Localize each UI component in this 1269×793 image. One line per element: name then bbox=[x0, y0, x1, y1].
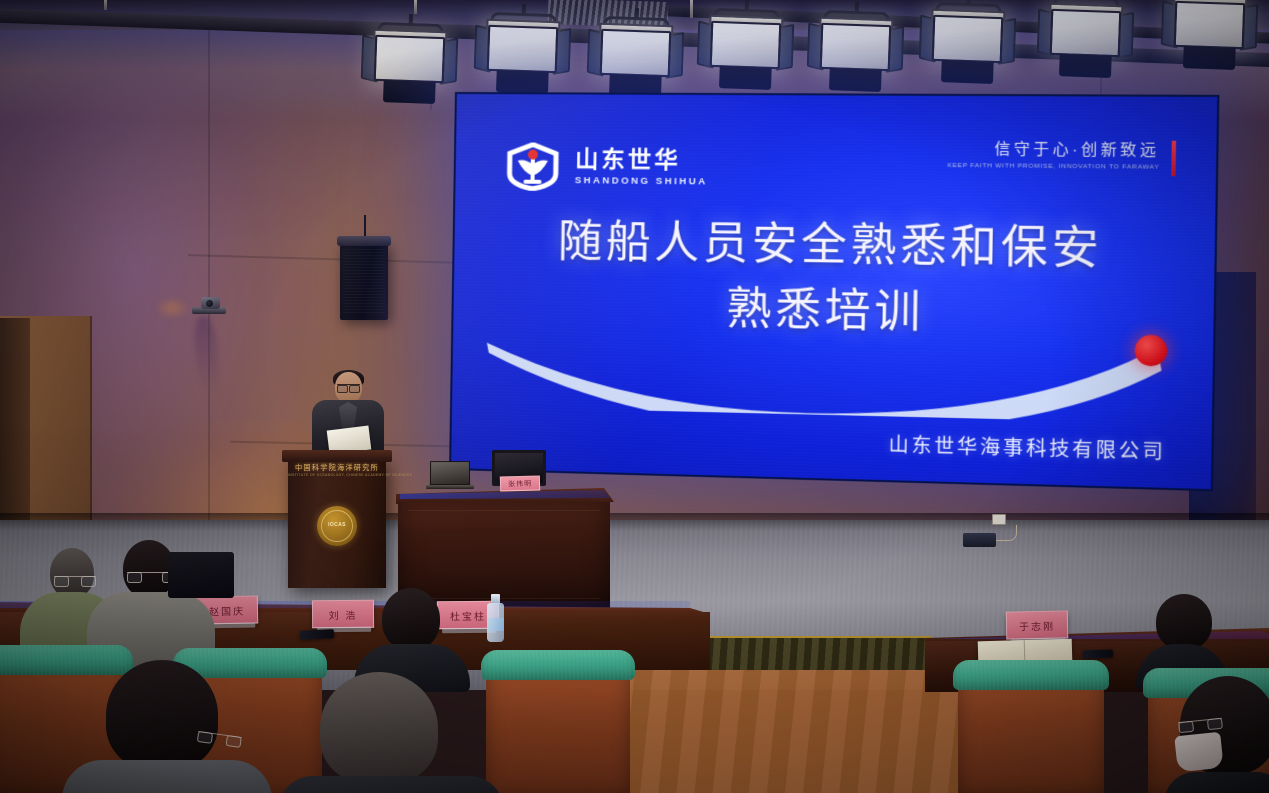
bottle-label bbox=[487, 618, 504, 631]
presenter-laptop bbox=[426, 461, 472, 489]
truss-hang-rod bbox=[104, 0, 107, 10]
person-shoulders bbox=[62, 760, 272, 793]
auditorium-seat[interactable] bbox=[486, 650, 630, 793]
laptop-keyboard-base bbox=[426, 485, 474, 489]
truss-hang-rod bbox=[414, 0, 417, 14]
floor-equipment-box bbox=[963, 533, 996, 547]
name-card-text: 于志刚 bbox=[1019, 617, 1055, 633]
stage-light-fixture bbox=[1165, 1, 1254, 78]
podium-institute-name-cn: 中国科学院海洋研究所 bbox=[288, 463, 386, 473]
name-card-text: 张伟明 bbox=[501, 477, 539, 491]
audience-person bbox=[78, 660, 248, 793]
speaking-podium: 中国科学院海洋研究所 INSTITUTE OF OCEANOLOGY, CHIN… bbox=[288, 458, 386, 588]
podium-emblem-icon: IOCAS bbox=[317, 506, 357, 546]
seat-headrest-pad bbox=[953, 660, 1109, 690]
wall-speaker bbox=[340, 242, 388, 320]
stage-edge-shadow bbox=[0, 513, 1269, 531]
stage-light-fixture bbox=[701, 21, 790, 98]
seat-backrest bbox=[958, 674, 1104, 793]
person-head bbox=[1156, 594, 1212, 650]
seat-backrest bbox=[486, 664, 630, 793]
stage-light-fixture bbox=[478, 25, 567, 102]
name-card: 于志刚 bbox=[1006, 610, 1069, 639]
light-body bbox=[1183, 46, 1236, 70]
person-head bbox=[106, 660, 218, 770]
audience-person bbox=[1140, 594, 1216, 674]
presenter-glasses-icon bbox=[337, 384, 360, 390]
seat-fabric-texture bbox=[953, 660, 1109, 690]
light-panel bbox=[487, 25, 559, 73]
seat-headrest-pad bbox=[481, 650, 635, 680]
light-panel bbox=[1050, 9, 1122, 57]
seat-fabric-texture bbox=[481, 650, 635, 680]
light-body bbox=[496, 70, 549, 94]
led-screen-slide[interactable]: 山东世华 SHANDONG SHIHUA 信守于心·创新致远 KEEP FAIT… bbox=[449, 92, 1219, 491]
light-panel bbox=[1174, 1, 1246, 49]
av-equipment-silhouette bbox=[168, 552, 238, 622]
audience-person bbox=[360, 588, 460, 678]
person-shoulders bbox=[1164, 772, 1269, 793]
camera-lens-icon bbox=[206, 300, 213, 307]
audience-person bbox=[1174, 676, 1269, 793]
stage-light-fixture bbox=[811, 23, 900, 100]
light-body bbox=[829, 68, 882, 92]
stage-light-fixture bbox=[1041, 9, 1130, 86]
wall-light-scuff bbox=[155, 297, 189, 319]
conference-hall-photo: 山东世华 SHANDONG SHIHUA 信守于心·创新致远 KEEP FAIT… bbox=[0, 0, 1269, 793]
light-body bbox=[719, 66, 772, 90]
podium-emblem-text: IOCAS bbox=[317, 522, 357, 528]
led-scanline-overlay bbox=[451, 94, 1217, 489]
speaker-grille bbox=[343, 249, 385, 313]
monitor-back bbox=[168, 552, 234, 598]
person-shoulders bbox=[278, 776, 504, 793]
desk-panel-line bbox=[408, 510, 600, 511]
name-card-text: 刘 浩 bbox=[329, 606, 358, 621]
laptop-screen bbox=[430, 461, 470, 485]
stage-skirt-curtain bbox=[700, 636, 932, 670]
person-glasses-icon bbox=[54, 576, 96, 577]
smartphone bbox=[1083, 649, 1113, 658]
equipment-cable bbox=[995, 525, 1017, 541]
speaker-bracket bbox=[337, 236, 391, 246]
person-head bbox=[50, 548, 94, 598]
light-panel bbox=[374, 35, 446, 83]
person-face-mask bbox=[1174, 732, 1224, 773]
light-panel bbox=[710, 21, 782, 69]
person-glasses-icon bbox=[198, 731, 242, 738]
auditorium-seat[interactable] bbox=[958, 660, 1104, 793]
stage-light-fixture bbox=[923, 15, 1012, 92]
audience-person bbox=[298, 672, 478, 793]
podium-institute-name-en: INSTITUTE OF OCEANOLOGY, CHINESE ACADEMY… bbox=[288, 473, 386, 477]
bottled-water bbox=[487, 594, 504, 642]
person-head bbox=[382, 588, 440, 650]
light-panel bbox=[820, 23, 892, 71]
light-body bbox=[1059, 54, 1112, 78]
light-panel bbox=[600, 29, 672, 77]
light-body bbox=[383, 80, 436, 104]
wall-power-outlet bbox=[992, 514, 1006, 525]
light-panel bbox=[932, 15, 1004, 63]
table-screen-reflection bbox=[931, 631, 1269, 639]
light-body bbox=[941, 60, 994, 84]
stage-light-fixture bbox=[365, 35, 454, 112]
person-head bbox=[320, 672, 438, 784]
smartphone bbox=[300, 629, 334, 640]
podium-top-surface bbox=[282, 450, 392, 462]
presenter-shirt bbox=[339, 402, 357, 430]
ptz-camera-icon bbox=[192, 297, 226, 314]
name-card: 张伟明 bbox=[500, 475, 540, 491]
truss-hang-rod bbox=[690, 0, 693, 18]
